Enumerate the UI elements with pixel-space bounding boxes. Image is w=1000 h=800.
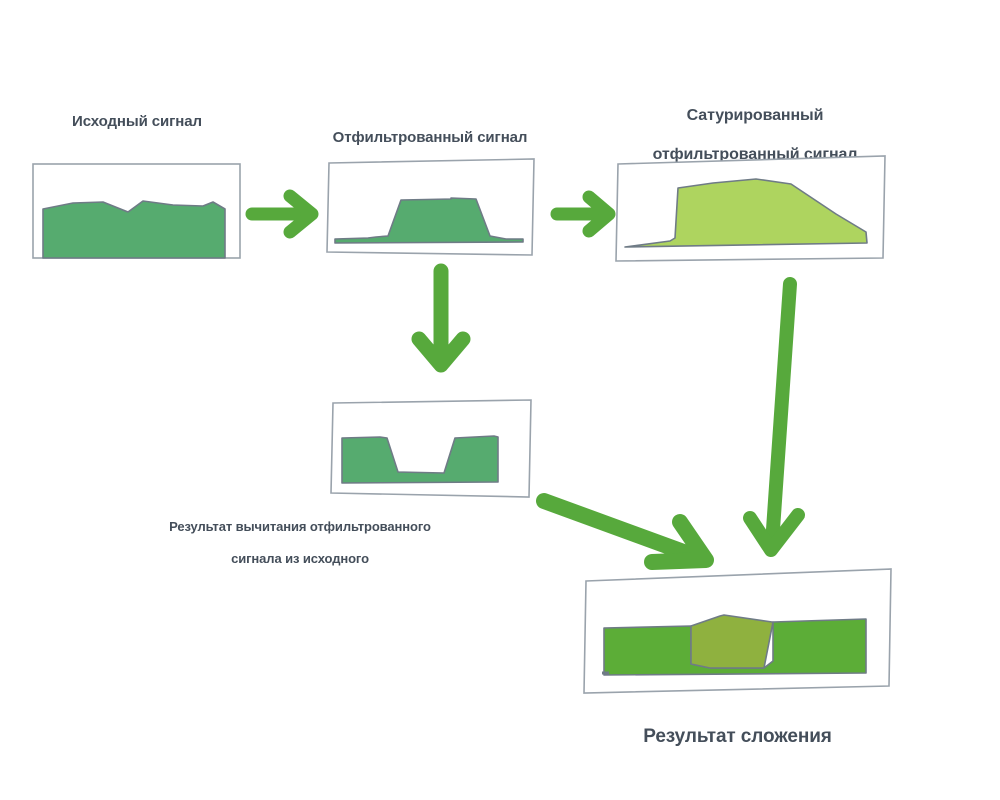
filtered-signal-plot	[318, 150, 544, 268]
caption-filtered-line-1: Отфильтрованный сигнал	[333, 129, 528, 146]
caption-subtraction-result: Результат вычитания отфильтрованного сиг…	[140, 503, 460, 566]
caption-sum-result: Результат сложения	[585, 725, 890, 748]
panel-filtered-signal	[318, 150, 544, 268]
sum-result-restored-hump-area	[691, 615, 773, 668]
arrow-down-icon	[742, 272, 862, 568]
caption-saturated-line-1: Сатурированный	[687, 107, 824, 124]
panel-sum-result	[576, 560, 902, 702]
panel-saturated-signal	[608, 148, 894, 272]
signal-processing-diagram: Исходный сигнал Отфильтрованный сигнал (…	[0, 0, 1000, 800]
panel-subtraction-result	[322, 392, 542, 504]
original-signal-area	[43, 201, 225, 258]
arrow-down-icon	[406, 262, 494, 384]
arrow-saturated-to-sum	[742, 272, 862, 568]
panel-original-signal	[25, 155, 255, 270]
caption-subtraction-line-2: сигнала из исходного	[231, 551, 369, 566]
original-signal-plot	[25, 155, 255, 270]
arrow-filtered-to-subtraction	[406, 262, 494, 384]
sum-result-plot	[576, 560, 902, 702]
saturated-signal-plot	[608, 148, 894, 272]
caption-original-signal: Исходный сигнал	[22, 113, 252, 131]
subtraction-result-plot	[322, 392, 542, 504]
caption-subtraction-line-1: Результат вычитания отфильтрованного	[169, 519, 431, 534]
